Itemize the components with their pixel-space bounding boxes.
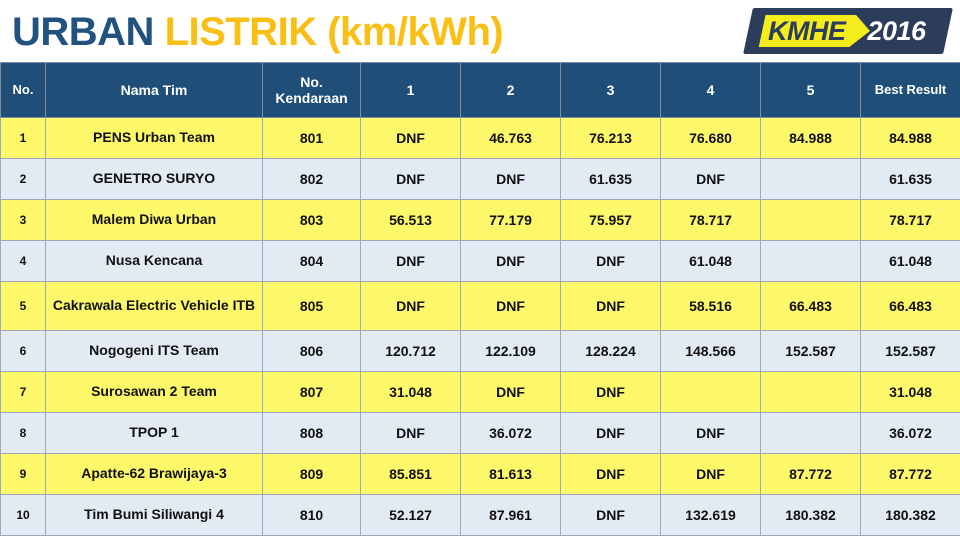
row-index: 3 (1, 200, 46, 241)
column-header-vehicle-line2: Kendaraan (275, 90, 347, 106)
table-row: 6Nogogeni ITS Team806120.712122.109128.2… (1, 331, 960, 372)
run-4-value: DNF (661, 413, 761, 454)
run-3-value: DNF (561, 282, 661, 331)
best-result-value: 61.635 (861, 159, 960, 200)
column-header-no: No. (1, 63, 46, 118)
best-result-value: 66.483 (861, 282, 960, 331)
logo-year-text: 2016 (868, 15, 926, 47)
run-4-value: 132.619 (661, 495, 761, 536)
vehicle-number: 808 (263, 413, 361, 454)
run-4-value: DNF (661, 159, 761, 200)
run-4-value: 148.566 (661, 331, 761, 372)
column-header-run-5: 5 (761, 63, 861, 118)
run-1-value: 85.851 (361, 454, 461, 495)
team-name: PENS Urban Team (46, 118, 263, 159)
run-3-value: DNF (561, 454, 661, 495)
team-name: Nusa Kencana (46, 241, 263, 282)
run-4-value (661, 372, 761, 413)
vehicle-number: 806 (263, 331, 361, 372)
run-2-value: 122.109 (461, 331, 561, 372)
run-5-value: 87.772 (761, 454, 861, 495)
run-1-value: 56.513 (361, 200, 461, 241)
run-4-value: 58.516 (661, 282, 761, 331)
run-5-value (761, 413, 861, 454)
kmhe-logo: KMHE 2016 (748, 8, 948, 54)
run-2-value: 81.613 (461, 454, 561, 495)
logo-content: KMHE 2016 (748, 8, 948, 54)
row-index: 7 (1, 372, 46, 413)
run-3-value: DNF (561, 372, 661, 413)
vehicle-number: 803 (263, 200, 361, 241)
row-index: 9 (1, 454, 46, 495)
team-name: Surosawan 2 Team (46, 372, 263, 413)
run-5-value: 84.988 (761, 118, 861, 159)
page-title-primary: URBAN (12, 10, 154, 54)
run-2-value: 77.179 (461, 200, 561, 241)
table-row: 4Nusa Kencana804DNFDNFDNF61.04861.048 (1, 241, 960, 282)
run-3-value: DNF (561, 241, 661, 282)
column-header-run-1: 1 (361, 63, 461, 118)
table-row: 10Tim Bumi Siliwangi 481052.12787.961DNF… (1, 495, 960, 536)
results-table-head: No. Nama Tim No. Kendaraan 1 2 3 4 5 Bes… (1, 63, 960, 118)
vehicle-number: 804 (263, 241, 361, 282)
run-2-value: 36.072 (461, 413, 561, 454)
page-title-secondary: LISTRIK (km/kWh) (165, 10, 504, 54)
run-1-value: DNF (361, 241, 461, 282)
run-3-value: 75.957 (561, 200, 661, 241)
run-2-value: DNF (461, 282, 561, 331)
run-3-value: 61.635 (561, 159, 661, 200)
vehicle-number: 810 (263, 495, 361, 536)
best-result-value: 84.988 (861, 118, 960, 159)
team-name: GENETRO SURYO (46, 159, 263, 200)
run-5-value (761, 159, 861, 200)
row-index: 8 (1, 413, 46, 454)
header-row: No. Nama Tim No. Kendaraan 1 2 3 4 5 Bes… (1, 63, 960, 118)
run-5-value: 152.587 (761, 331, 861, 372)
run-5-value (761, 372, 861, 413)
best-result-value: 87.772 (861, 454, 960, 495)
page-header: URBAN LISTRIK (km/kWh) KMHE 2016 (0, 0, 960, 62)
results-table: No. Nama Tim No. Kendaraan 1 2 3 4 5 Bes… (0, 62, 960, 536)
best-result-value: 180.382 (861, 495, 960, 536)
team-name: Cakrawala Electric Vehicle ITB (46, 282, 263, 331)
run-5-value (761, 200, 861, 241)
run-4-value: 76.680 (661, 118, 761, 159)
team-name: Apatte-62 Brawijaya-3 (46, 454, 263, 495)
run-5-value (761, 241, 861, 282)
run-2-value: 87.961 (461, 495, 561, 536)
table-row: 2GENETRO SURYO802DNFDNF61.635DNF61.635 (1, 159, 960, 200)
vehicle-number: 807 (263, 372, 361, 413)
run-3-value: DNF (561, 495, 661, 536)
column-header-run-4: 4 (661, 63, 761, 118)
vehicle-number: 805 (263, 282, 361, 331)
run-4-value: 61.048 (661, 241, 761, 282)
run-5-value: 180.382 (761, 495, 861, 536)
run-4-value: 78.717 (661, 200, 761, 241)
best-result-value: 31.048 (861, 372, 960, 413)
team-name: Tim Bumi Siliwangi 4 (46, 495, 263, 536)
page-title: URBAN LISTRIK (km/kWh) (12, 8, 503, 56)
run-3-value: 76.213 (561, 118, 661, 159)
results-table-body: 1PENS Urban Team801DNF46.76376.21376.680… (1, 118, 960, 536)
table-row: 3Malem Diwa Urban80356.51377.17975.95778… (1, 200, 960, 241)
best-result-value: 152.587 (861, 331, 960, 372)
run-1-value: 31.048 (361, 372, 461, 413)
logo-mark-wrap: KMHE (762, 15, 846, 47)
run-2-value: 46.763 (461, 118, 561, 159)
run-1-value: DNF (361, 413, 461, 454)
team-name: Nogogeni ITS Team (46, 331, 263, 372)
best-result-value: 36.072 (861, 413, 960, 454)
table-row: 7Surosawan 2 Team80731.048DNFDNF31.048 (1, 372, 960, 413)
row-index: 2 (1, 159, 46, 200)
run-3-value: 128.224 (561, 331, 661, 372)
table-row: 8TPOP 1808DNF36.072DNFDNF36.072 (1, 413, 960, 454)
team-name: Malem Diwa Urban (46, 200, 263, 241)
run-1-value: DNF (361, 282, 461, 331)
vehicle-number: 809 (263, 454, 361, 495)
run-1-value: DNF (361, 118, 461, 159)
table-row: 9Apatte-62 Brawijaya-380985.85181.613DNF… (1, 454, 960, 495)
run-5-value: 66.483 (761, 282, 861, 331)
run-1-value: 120.712 (361, 331, 461, 372)
column-header-vehicle-line1: No. (300, 74, 323, 90)
table-row: 1PENS Urban Team801DNF46.76376.21376.680… (1, 118, 960, 159)
vehicle-number: 802 (263, 159, 361, 200)
run-2-value: DNF (461, 372, 561, 413)
vehicle-number: 801 (263, 118, 361, 159)
logo-mark-text: KMHE (762, 15, 846, 47)
best-result-value: 61.048 (861, 241, 960, 282)
run-4-value: DNF (661, 454, 761, 495)
column-header-team: Nama Tim (46, 63, 263, 118)
run-1-value: DNF (361, 159, 461, 200)
column-header-best-result: Best Result (861, 63, 960, 118)
run-2-value: DNF (461, 241, 561, 282)
best-result-value: 78.717 (861, 200, 960, 241)
row-index: 4 (1, 241, 46, 282)
column-header-run-2: 2 (461, 63, 561, 118)
column-header-vehicle-number: No. Kendaraan (263, 63, 361, 118)
row-index: 5 (1, 282, 46, 331)
run-3-value: DNF (561, 413, 661, 454)
team-name: TPOP 1 (46, 413, 263, 454)
row-index: 6 (1, 331, 46, 372)
column-header-run-3: 3 (561, 63, 661, 118)
row-index: 10 (1, 495, 46, 536)
run-1-value: 52.127 (361, 495, 461, 536)
row-index: 1 (1, 118, 46, 159)
table-row: 5Cakrawala Electric Vehicle ITB805DNFDNF… (1, 282, 960, 331)
run-2-value: DNF (461, 159, 561, 200)
